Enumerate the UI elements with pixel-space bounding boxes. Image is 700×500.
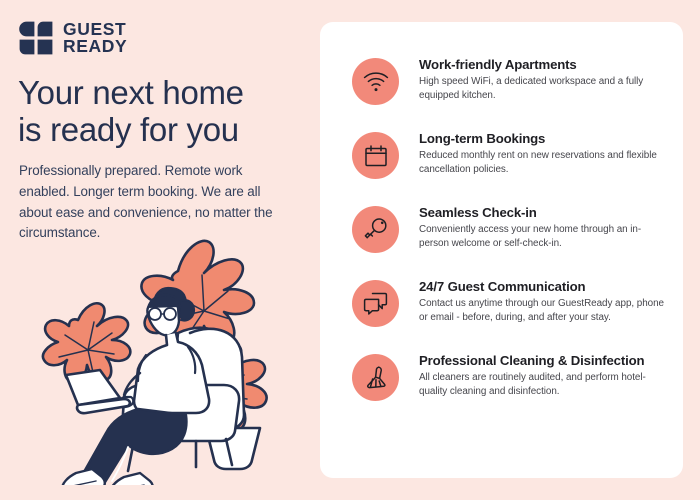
feature-text: 24/7 Guest Communication Contact us anyt… — [419, 278, 664, 325]
feature-item-work-friendly-apartments[interactable]: Work-friendly Apartments High speed WiFi… — [352, 56, 665, 105]
feature-item-long-term-bookings[interactable]: Long-term Bookings Reduced monthly rent … — [352, 130, 665, 179]
feature-text: Long-term Bookings Reduced monthly rent … — [419, 130, 664, 177]
feature-icon-badge — [352, 354, 399, 401]
feature-title: Professional Cleaning & Disinfection — [419, 353, 664, 368]
feature-description: Reduced monthly rent on new reservations… — [419, 149, 664, 177]
feature-icon-badge — [352, 206, 399, 253]
features-list: Work-friendly Apartments High speed WiFi… — [320, 22, 683, 478]
feature-title: Long-term Bookings — [419, 131, 664, 146]
page-title-line-2: is ready for you — [18, 111, 239, 148]
feature-text: Work-friendly Apartments High speed WiFi… — [419, 56, 664, 103]
plant-left — [43, 303, 130, 382]
feature-text: Professional Cleaning & Disinfection All… — [419, 352, 664, 399]
feature-icon-badge — [352, 280, 399, 327]
features-card: Work-friendly Apartments High speed WiFi… — [320, 22, 683, 478]
hero-column: GUEST READY Your next home is ready for … — [0, 0, 320, 500]
brand-logo[interactable]: GUEST READY — [18, 20, 127, 56]
feature-title: Work-friendly Apartments — [419, 57, 664, 72]
feature-description: High speed WiFi, a dedicated workspace a… — [419, 75, 664, 103]
feature-item-seamless-check-in[interactable]: Seamless Check-in Conveniently access yo… — [352, 204, 665, 253]
wifi-icon — [363, 71, 389, 93]
brand-name-line-2: READY — [63, 38, 127, 55]
page-title: Your next home is ready for you — [18, 74, 308, 149]
page-title-line-1: Your next home — [18, 74, 244, 111]
feature-icon-badge — [352, 132, 399, 179]
chat-bubbles-icon — [363, 292, 388, 315]
key-icon — [363, 217, 388, 242]
feature-item-guest-communication[interactable]: 24/7 Guest Communication Contact us anyt… — [352, 278, 665, 327]
feature-title: 24/7 Guest Communication — [419, 279, 664, 294]
feature-description: All cleaners are routinely audited, and … — [419, 371, 664, 399]
feature-description: Conveniently access your new home throug… — [419, 223, 664, 251]
guestready-quadrant-logo-icon — [18, 20, 54, 56]
hero-illustration — [28, 215, 313, 485]
woman-working-on-laptop-illustration-icon — [28, 215, 313, 485]
feature-description: Contact us anytime through our GuestRead… — [419, 297, 664, 325]
calendar-icon — [364, 144, 388, 168]
feature-icon-badge — [352, 58, 399, 105]
feature-item-professional-cleaning[interactable]: Professional Cleaning & Disinfection All… — [352, 352, 665, 401]
broom-icon — [363, 365, 388, 390]
feature-title: Seamless Check-in — [419, 205, 664, 220]
feature-text: Seamless Check-in Conveniently access yo… — [419, 204, 664, 251]
brand-wordmark: GUEST READY — [63, 21, 127, 54]
